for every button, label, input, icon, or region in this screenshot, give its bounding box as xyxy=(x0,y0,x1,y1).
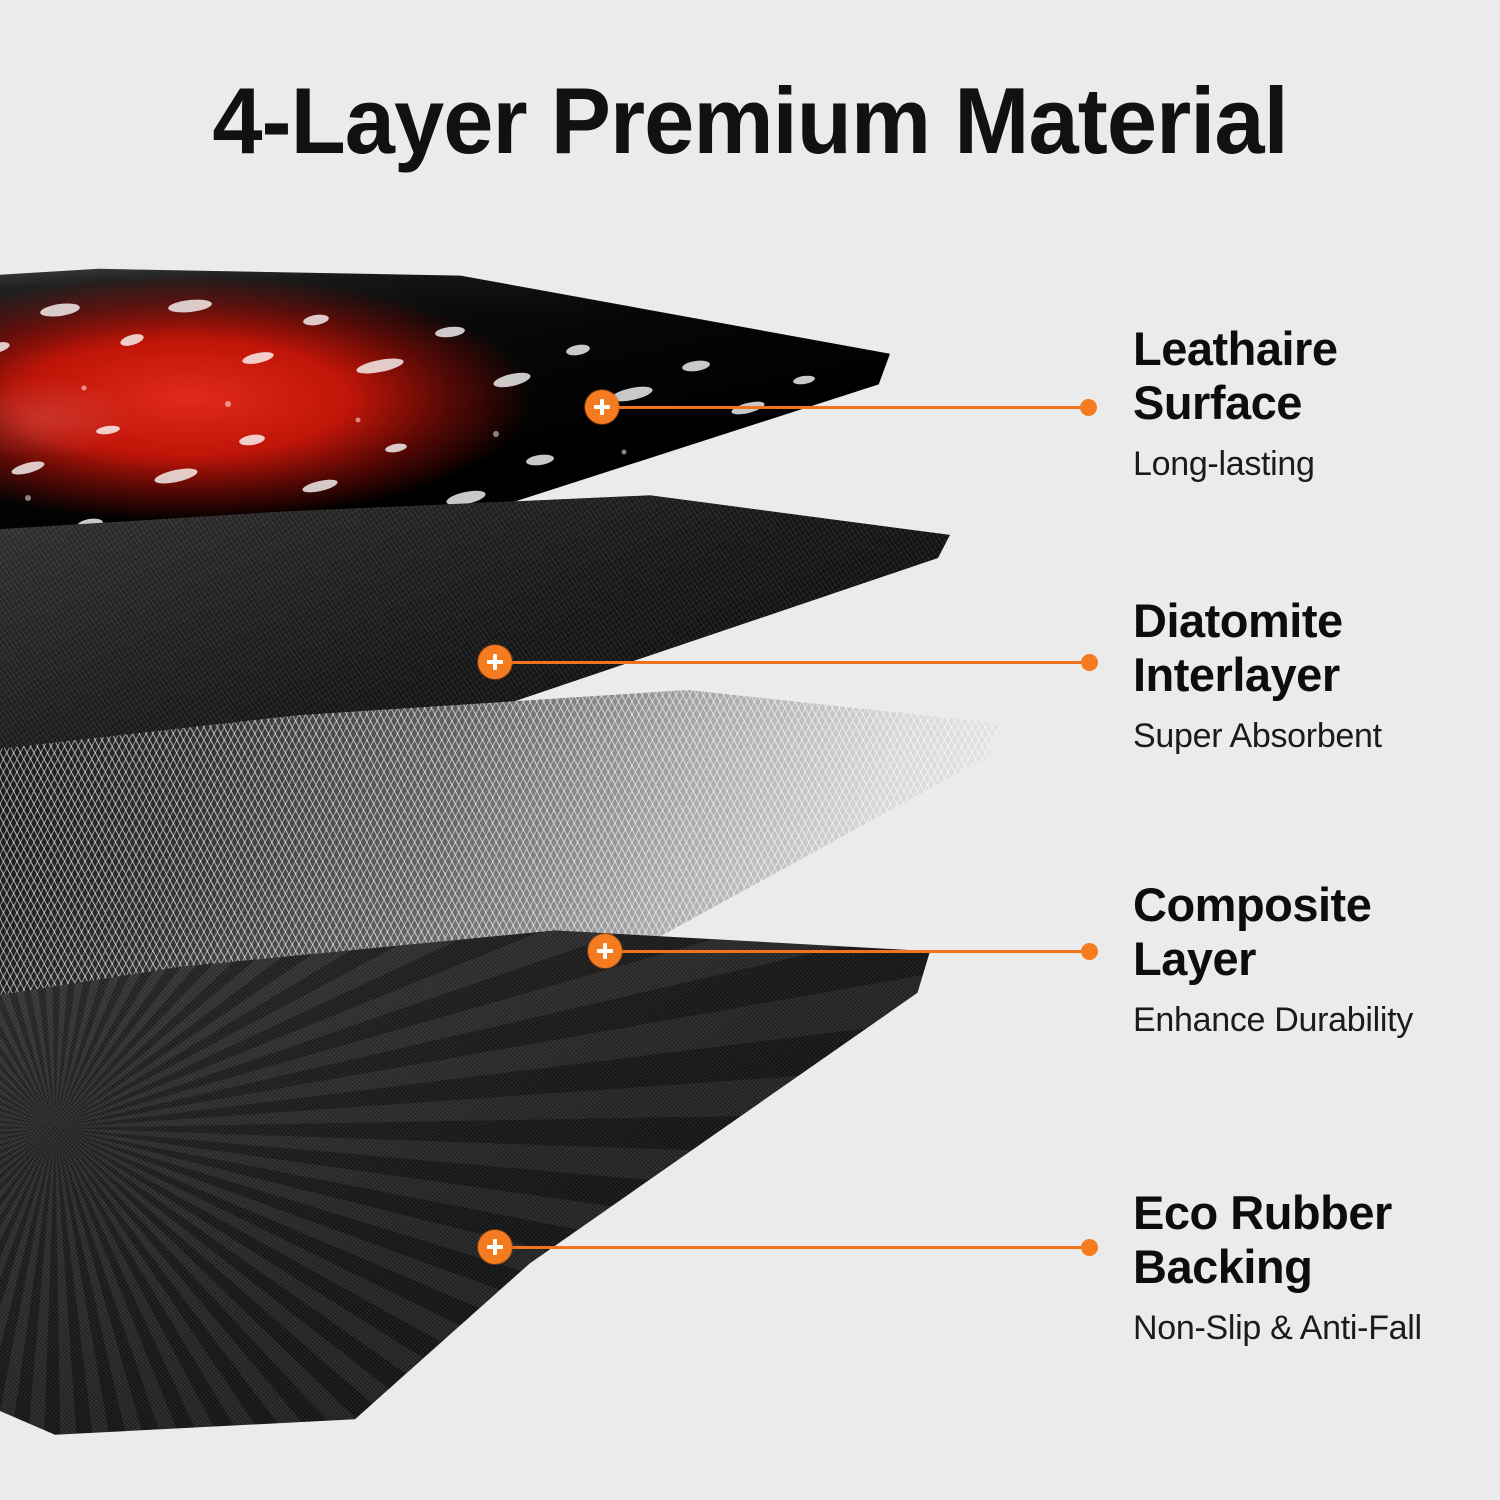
plus-icon[interactable] xyxy=(478,1230,512,1264)
callout-connector-leathaire-surface xyxy=(585,390,1105,424)
plus-icon[interactable] xyxy=(585,390,619,424)
connector-endpoint-dot xyxy=(1081,1239,1098,1256)
callout-connector-eco-rubber-backing xyxy=(478,1230,1106,1264)
callout-connector-composite-layer xyxy=(588,934,1106,968)
label-subtitle: Long-lasting xyxy=(1133,442,1493,486)
connector-endpoint-dot xyxy=(1081,943,1098,960)
label-eco-rubber-backing: Eco Rubber Backing Non-Slip & Anti-Fall xyxy=(1133,1186,1493,1350)
plus-icon[interactable] xyxy=(478,645,512,679)
label-composite-layer: Composite Layer Enhance Durability xyxy=(1133,878,1493,1042)
connector-line xyxy=(605,950,1089,953)
label-subtitle: Super Absorbent xyxy=(1133,714,1493,758)
callout-connector-diatomite-interlayer xyxy=(478,645,1106,679)
label-subtitle: Non-Slip & Anti-Fall xyxy=(1133,1306,1493,1350)
plus-icon[interactable] xyxy=(588,934,622,968)
label-title: Eco Rubber Backing xyxy=(1133,1186,1493,1294)
label-title-line1: Leathaire xyxy=(1133,322,1337,375)
label-title-line2: Surface xyxy=(1133,376,1302,429)
layer-eco-rubber-backing xyxy=(0,920,930,1440)
label-title-line2: Layer xyxy=(1133,932,1256,985)
label-title-line1: Diatomite xyxy=(1133,594,1343,647)
connector-endpoint-dot xyxy=(1081,654,1098,671)
connector-line xyxy=(495,1246,1089,1249)
connector-line xyxy=(602,406,1088,409)
label-title: Composite Layer xyxy=(1133,878,1493,986)
label-title-line2: Backing xyxy=(1133,1240,1312,1293)
label-title-line1: Composite xyxy=(1133,878,1371,931)
label-leathaire-surface: Leathaire Surface Long-lasting xyxy=(1133,322,1493,486)
label-title: Diatomite Interlayer xyxy=(1133,594,1493,702)
label-title: Leathaire Surface xyxy=(1133,322,1493,430)
connector-endpoint-dot xyxy=(1080,399,1097,416)
label-title-line2: Interlayer xyxy=(1133,648,1340,701)
label-diatomite-interlayer: Diatomite Interlayer Super Absorbent xyxy=(1133,594,1493,758)
product-infographic: 4-Layer Premium Material xyxy=(0,0,1500,1500)
label-subtitle: Enhance Durability xyxy=(1133,998,1493,1042)
connector-line xyxy=(495,661,1089,664)
label-title-line1: Eco Rubber xyxy=(1133,1186,1392,1239)
